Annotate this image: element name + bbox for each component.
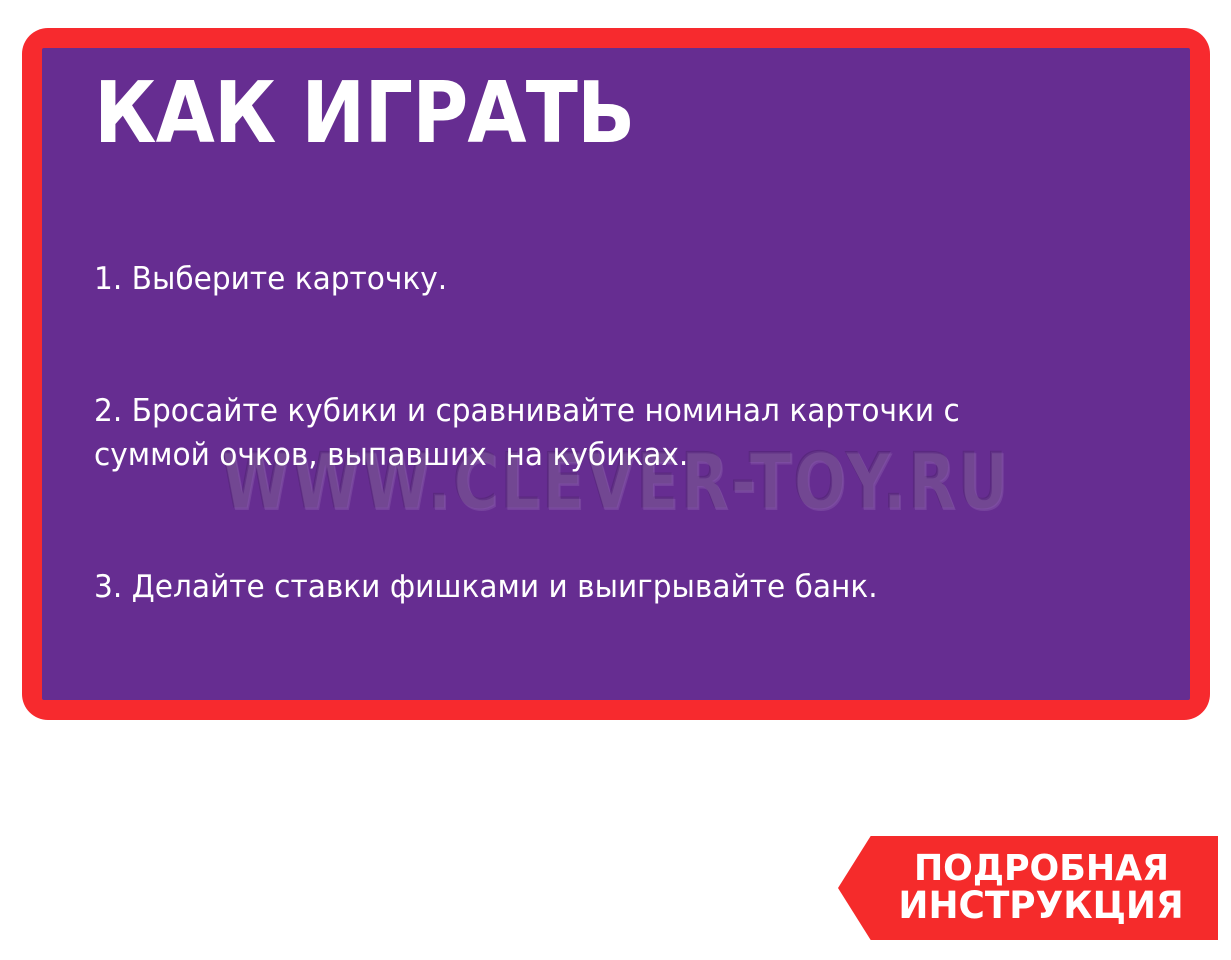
list-item: 1. Выберите карточку. — [94, 257, 1059, 301]
detailed-instruction-badge: ПОДРОБНАЯ ИНСТРУКЦИЯ — [838, 836, 1218, 940]
how-to-play-steps: 1. Выберите карточку. 2. Бросайте кубики… — [94, 169, 1059, 697]
detailed-instruction-badge-line1: ПОДРОБНАЯ — [913, 850, 1168, 887]
detailed-instruction-badge-line2: ИНСТРУКЦИЯ — [898, 887, 1183, 925]
page-title: КАК ИГРАТЬ — [94, 72, 1034, 155]
list-item: 2. Бросайте кубики и сравнивайте номинал… — [94, 389, 1059, 477]
list-item: 3. Делайте ставки фишками и выигрывайте … — [94, 565, 1059, 609]
instruction-card: WWW.CLEVER-TOY.RU КАК ИГРАТЬ 1. Выберите… — [22, 28, 1210, 720]
instruction-card-body: WWW.CLEVER-TOY.RU КАК ИГРАТЬ 1. Выберите… — [42, 48, 1190, 700]
